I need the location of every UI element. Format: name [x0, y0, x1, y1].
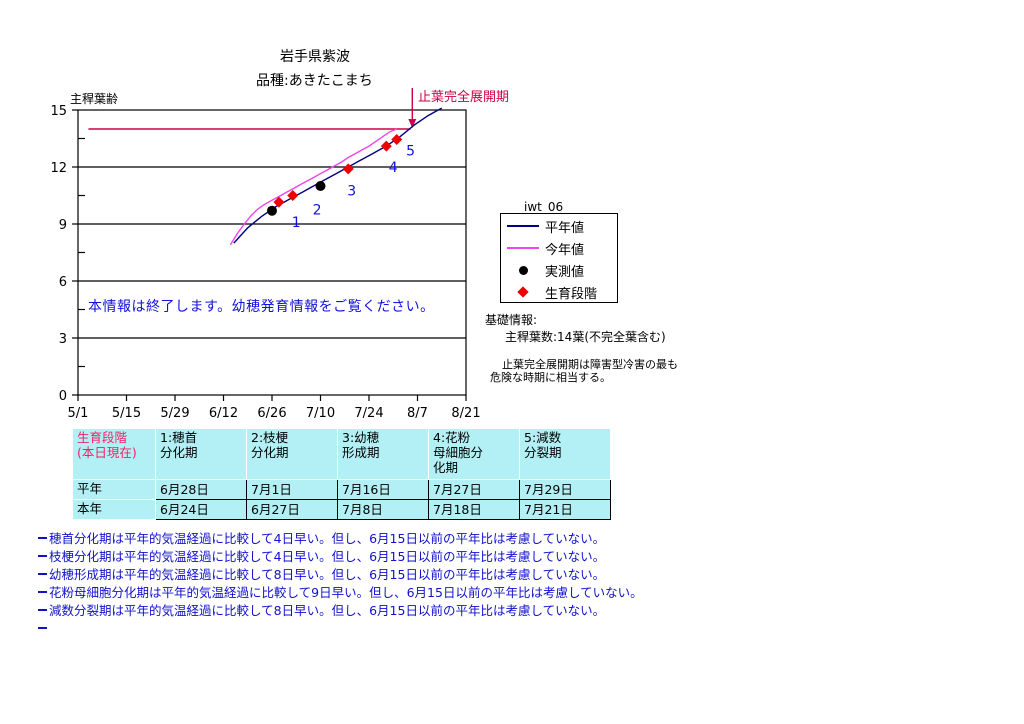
header-line1: 3:幼穂 [342, 430, 424, 445]
note-line-1: 穂首分化期は平年的気温経過に比較して4日早い。但し、6月15日以前の平年比は考慮… [38, 530, 643, 548]
x-tick-label: 5/15 [112, 406, 141, 420]
x-tick-label: 5/29 [160, 406, 189, 420]
note-text: 幼穂形成期は平年的気温経過に比較して8日早い。但し、6月15日以前の平年比は考慮… [49, 567, 605, 582]
stage-number-label-4: 4 [389, 160, 398, 176]
stage-table-cell-r2-c2: 6月27日 [247, 500, 338, 520]
stage-table-cell-r2-c5: 7月21日 [520, 500, 611, 520]
note-text: 枝梗分化期は平年的気温経過に比較して4日早い。但し、6月15日以前の平年比は考慮… [49, 549, 605, 564]
stage-number-label-3: 3 [347, 184, 356, 200]
y-tick-label: 15 [50, 104, 67, 119]
legend-item-this-year: 今年値 [501, 237, 619, 259]
header-line1: 4:花粉 [433, 430, 515, 445]
stage-table-row-label-2: 本年 [73, 500, 156, 520]
note-bullet-dash-icon [38, 609, 47, 611]
stage-table-header-3: 3:幼穂形成期 [338, 429, 429, 480]
note-text: 穂首分化期は平年的気温経過に比較して4日早い。但し、6月15日以前の平年比は考慮… [49, 531, 605, 546]
note-text: 減数分裂期は平年的気温経過に比較して8日早い。但し、6月15日以前の平年比は考慮… [49, 603, 605, 618]
note-bullet-dash-icon [38, 537, 47, 539]
legend-item-observed: 実測値 [501, 259, 619, 281]
legend-line-thisyear-icon [501, 247, 545, 249]
stage-table-row-label-1: 平年 [73, 480, 156, 500]
legend-title: iwt_06 [524, 200, 563, 214]
table-row: 本年6月24日6月27日7月8日7月18日7月21日 [73, 500, 611, 520]
legend-label-growth-stage: 生育段階 [545, 283, 597, 302]
observed-point-marker [316, 181, 326, 191]
basic-info-block: 基礎情報: 主稈葉数:14葉(不完全葉含む) [485, 312, 666, 346]
stage-table-header-1: 1:穂首分化期 [156, 429, 247, 480]
stage-table-cell-r2-c3: 7月8日 [338, 500, 429, 520]
legend-diamond-icon [501, 288, 545, 296]
note-line-2: 枝梗分化期は平年的気温経過に比較して4日早い。但し、6月15日以前の平年比は考慮… [38, 548, 643, 566]
y-tick-label: 9 [59, 218, 67, 233]
stage-table-corner: 生育段階(本日現在) [73, 429, 156, 480]
note-bullet-dash-icon [38, 573, 47, 575]
y-tick-label: 0 [59, 389, 67, 404]
note-bullet-dash-icon [38, 555, 47, 557]
note-bullet-dash-icon [38, 627, 47, 629]
legend-item-growth-stage: 生育段階 [501, 281, 619, 303]
x-tick-label: 6/12 [209, 406, 238, 420]
header-line2: 分化期 [160, 445, 242, 460]
y-axis-title: 主稈葉齢 [70, 90, 118, 107]
x-tick-label: 8/21 [451, 406, 480, 420]
risk-note-line1: 止葉完全展開期は障害型冷害の最も [490, 358, 678, 371]
stage-table-cell-r2-c1: 6月24日 [156, 500, 247, 520]
legend-item-normal-year: 平年値 [501, 215, 619, 237]
y-tick-label: 6 [59, 275, 67, 290]
stage-table-header-5: 5:減数分裂期 [520, 429, 611, 480]
stage-table-cell-r1-c2: 7月1日 [247, 480, 338, 500]
chart-title-region: 岩手県紫波 [280, 46, 350, 66]
stage-table-header-2: 2:枝梗分化期 [247, 429, 338, 480]
stage-table-cell-r1-c3: 7月16日 [338, 480, 429, 500]
x-tick-label: 8/7 [407, 406, 428, 420]
risk-note-block: 止葉完全展開期は障害型冷害の最も 危険な時期に相当する。 [490, 358, 678, 384]
x-tick-label: 7/10 [306, 406, 335, 420]
header-line1: 5:減数 [524, 430, 606, 445]
header-line2: 分裂期 [524, 445, 606, 460]
note-bullet-dash-icon [38, 591, 47, 593]
note-line-6 [38, 620, 643, 638]
legend-label-normal: 平年値 [545, 217, 584, 236]
stage-number-label-1: 1 [292, 215, 301, 231]
stage-table-cell-r2-c4: 7月18日 [429, 500, 520, 520]
corner-line1: 生育段階 [77, 430, 151, 445]
growth-stage-table: 生育段階(本日現在)1:穂首分化期2:枝梗分化期3:幼穂形成期4:花粉母細胞分化… [72, 428, 611, 520]
x-tick-label: 7/24 [354, 406, 383, 420]
legend-label-this-year: 今年値 [545, 239, 584, 258]
note-line-4: 花粉母細胞分化期は平年的気温経過に比較して9日早い。但し、6月15日以前の平年比… [38, 584, 643, 602]
note-line-3: 幼穂形成期は平年的気温経過に比較して8日早い。但し、6月15日以前の平年比は考慮… [38, 566, 643, 584]
header-line2: 分化期 [251, 445, 333, 460]
header-line2: 形成期 [342, 445, 424, 460]
header-line2: 母細胞分 [433, 445, 515, 460]
legend-box: 平年値 今年値 実測値 生育段階 [500, 213, 618, 303]
stage-table-header-4: 4:花粉母細胞分化期 [429, 429, 520, 480]
corner-line2: (本日現在) [77, 445, 151, 460]
basic-info-detail: 主稈葉数:14葉(不完全葉含む) [485, 329, 666, 346]
x-tick-label: 5/1 [68, 406, 89, 420]
header-line1: 2:枝梗 [251, 430, 333, 445]
notes-list: 穂首分化期は平年的気温経過に比較して4日早い。但し、6月15日以前の平年比は考慮… [38, 530, 643, 638]
chart-title-variety: 品種:あきたこまち [256, 70, 373, 90]
stage-number-label-5: 5 [406, 144, 415, 160]
legend-line-normal-icon [501, 225, 545, 227]
note-text: 花粉母細胞分化期は平年的気温経過に比較して9日早い。但し、6月15日以前の平年比… [49, 585, 643, 600]
note-line-5: 減数分裂期は平年的気温経過に比較して8日早い。但し、6月15日以前の平年比は考慮… [38, 602, 643, 620]
risk-note-line2: 危険な時期に相当する。 [490, 371, 678, 384]
stage-table-cell-r1-c4: 7月27日 [429, 480, 520, 500]
header-line3: 化期 [433, 460, 515, 475]
table-row: 平年6月28日7月1日7月16日7月27日7月29日 [73, 480, 611, 500]
flag-leaf-annotation-label: 止葉完全展開期 [418, 86, 509, 105]
x-tick-label: 6/26 [257, 406, 286, 420]
stage-table-cell-r1-c5: 7月29日 [520, 480, 611, 500]
chart-notice-message: 本情報は終了します。幼穂発育情報をご覧ください。 [88, 296, 435, 316]
header-line1: 1:穂首 [160, 430, 242, 445]
y-tick-label: 12 [50, 161, 67, 176]
y-tick-label: 3 [59, 332, 67, 347]
observed-point-marker [267, 206, 277, 216]
legend-circle-icon [501, 266, 545, 275]
stage-table-cell-r1-c1: 6月28日 [156, 480, 247, 500]
basic-info-heading: 基礎情報: [485, 312, 666, 329]
stage-table-header-row: 生育段階(本日現在)1:穂首分化期2:枝梗分化期3:幼穂形成期4:花粉母細胞分化… [73, 429, 611, 480]
legend-label-observed: 実測値 [545, 261, 584, 280]
stage-number-label-2: 2 [313, 203, 322, 219]
